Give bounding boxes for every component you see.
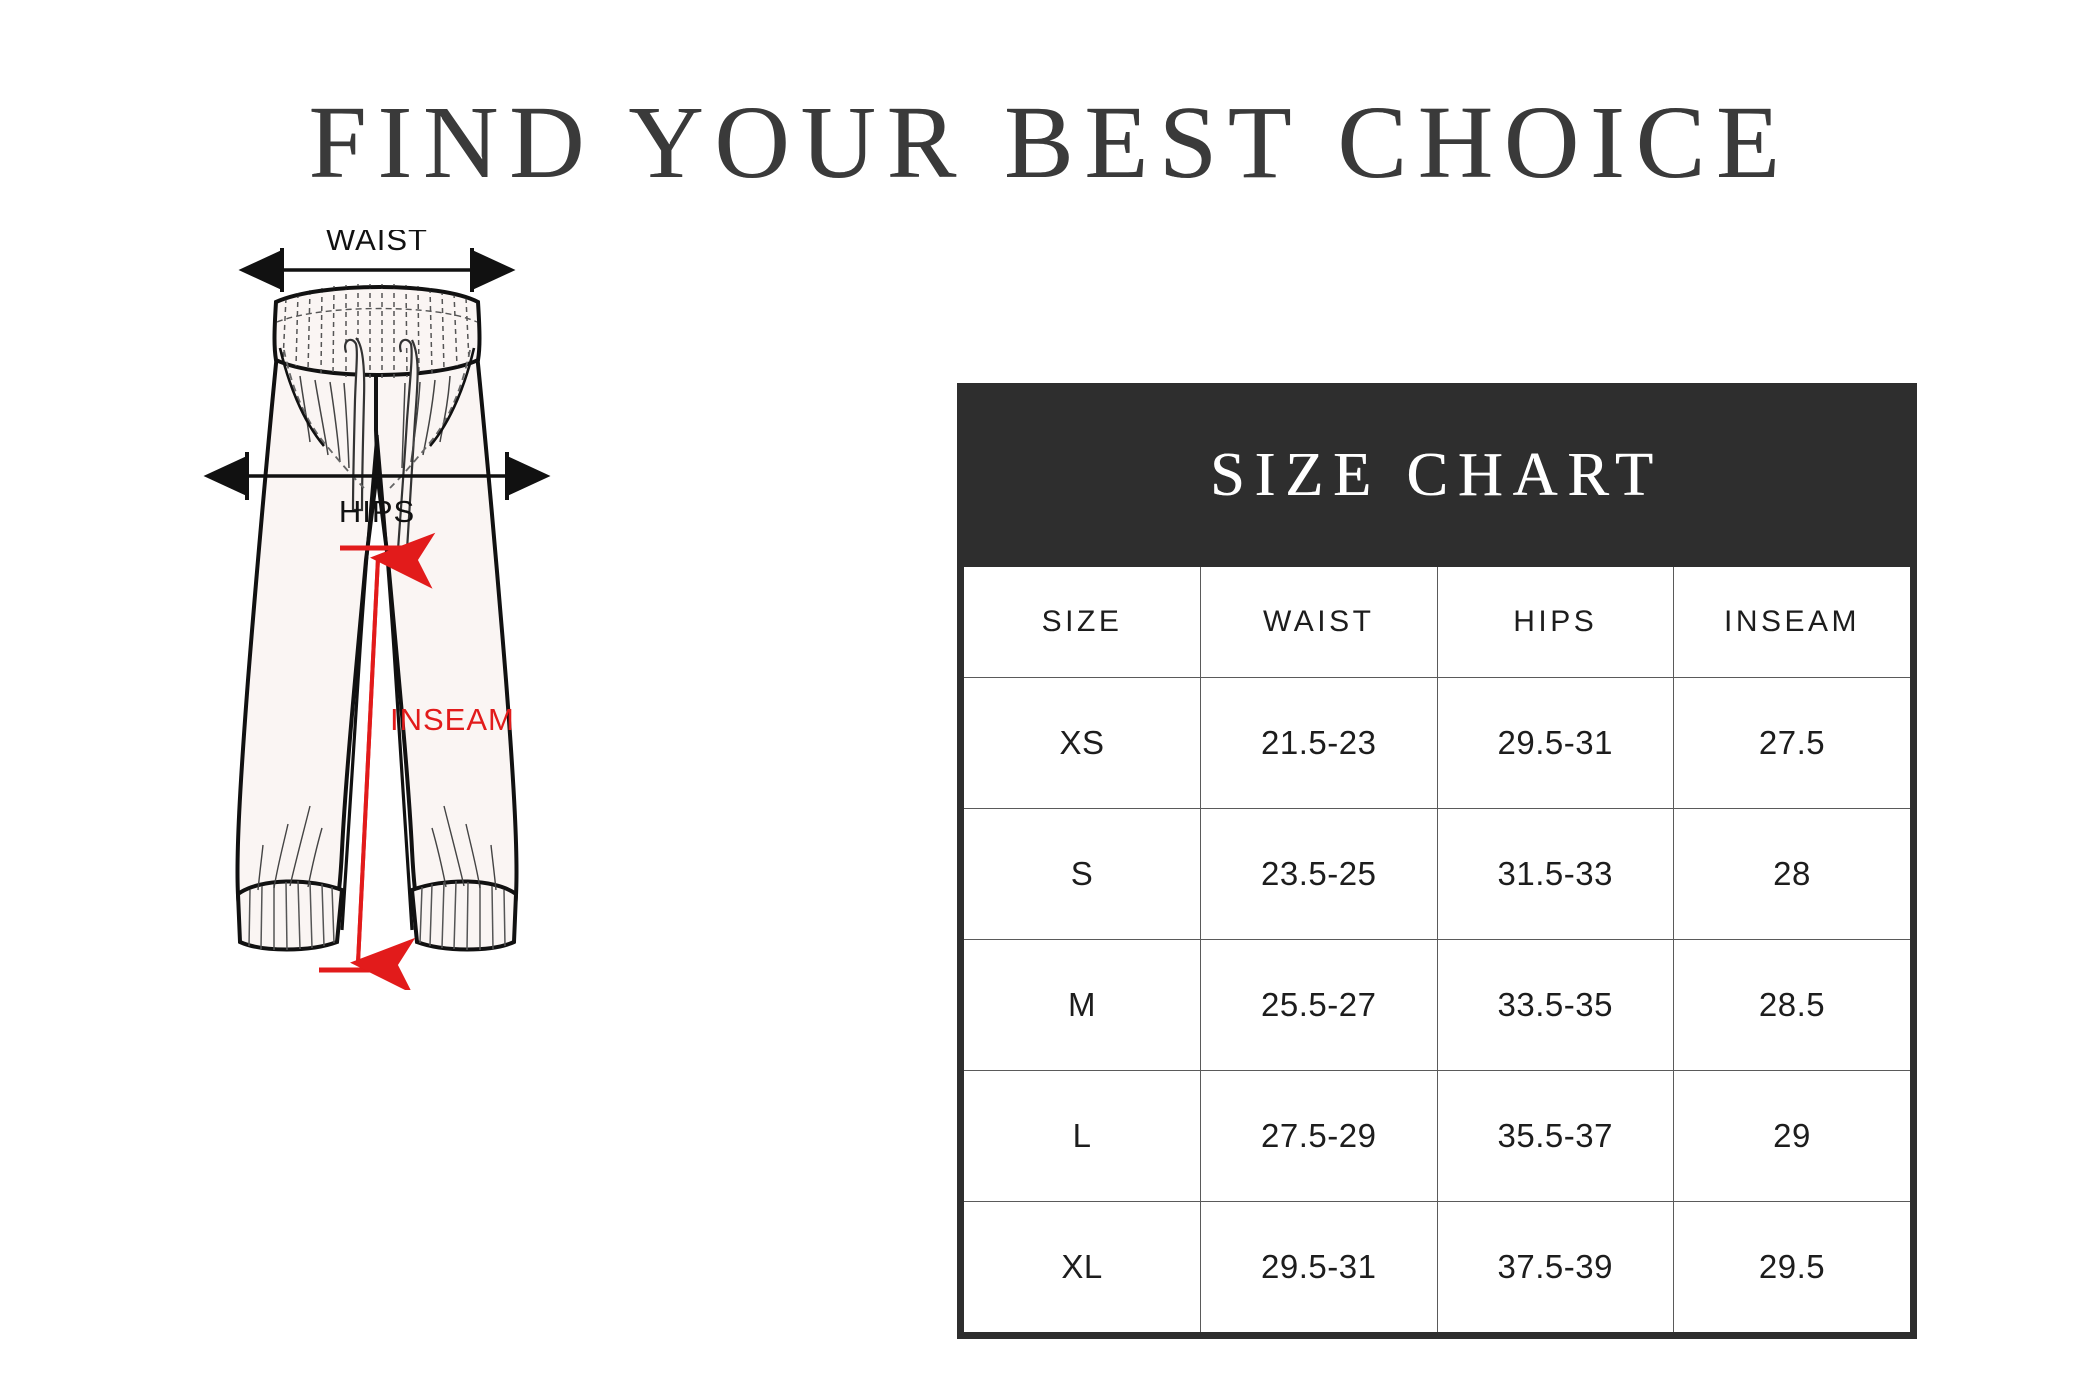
cell-size: XL [964,1202,1201,1333]
waist-dimension: WAIST [282,230,472,292]
hips-label: HIPS [339,494,415,529]
cell-hips: 37.5-39 [1437,1202,1674,1333]
column-header-size: SIZE [964,567,1201,678]
table-row: L 27.5-29 35.5-37 29 [964,1071,1910,1202]
cell-inseam: 28 [1674,809,1911,940]
column-header-hips: HIPS [1437,567,1674,678]
cell-waist: 25.5-27 [1201,940,1438,1071]
size-chart-panel: SIZE CHART SIZE WAIST HIPS INSEAM XS 21.… [957,383,1917,1339]
cell-inseam: 28.5 [1674,940,1911,1071]
table-row: XS 21.5-23 29.5-31 27.5 [964,678,1910,809]
table-row: S 23.5-25 31.5-33 28 [964,809,1910,940]
cell-inseam: 29 [1674,1071,1911,1202]
size-chart-table: SIZE WAIST HIPS INSEAM XS 21.5-23 29.5-3… [964,567,1910,1332]
cell-inseam: 29.5 [1674,1202,1911,1333]
cell-waist: 27.5-29 [1201,1071,1438,1202]
cell-inseam: 27.5 [1674,678,1911,809]
cell-waist: 21.5-23 [1201,678,1438,809]
size-chart-header: SIZE CHART [957,383,1917,567]
size-chart-title: SIZE CHART [1211,440,1664,511]
pants-illustration: WAIST [150,230,790,990]
table-row: M 25.5-27 33.5-35 28.5 [964,940,1910,1071]
table-header-row: SIZE WAIST HIPS INSEAM [964,567,1910,678]
column-header-inseam: INSEAM [1674,567,1911,678]
cell-size: L [964,1071,1201,1202]
column-header-waist: WAIST [1201,567,1438,678]
cell-waist: 29.5-31 [1201,1202,1438,1333]
cell-size: XS [964,678,1201,809]
waist-label: WAIST [326,230,428,257]
cell-size: S [964,809,1201,940]
cell-hips: 29.5-31 [1437,678,1674,809]
cell-hips: 31.5-33 [1437,809,1674,940]
table-row: XL 29.5-31 37.5-39 29.5 [964,1202,1910,1333]
cell-hips: 35.5-37 [1437,1071,1674,1202]
cell-waist: 23.5-25 [1201,809,1438,940]
page-title: FIND YOUR BEST CHOICE [0,88,2100,197]
cell-hips: 33.5-35 [1437,940,1674,1071]
cell-size: M [964,940,1201,1071]
inseam-label: INSEAM [390,702,515,737]
